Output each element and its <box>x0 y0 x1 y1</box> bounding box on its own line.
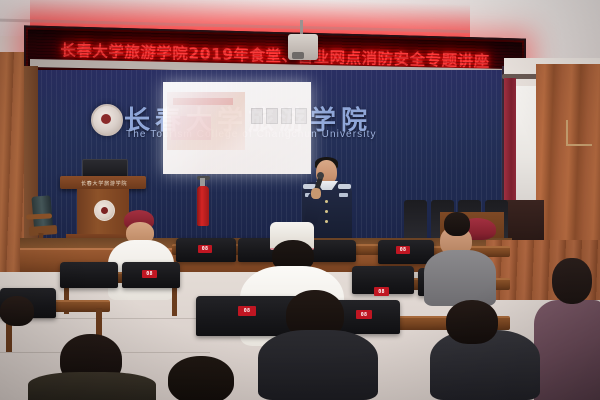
university-emblem-icon <box>91 104 123 136</box>
audience-body-a3 <box>258 330 378 400</box>
audience-body-front-left <box>28 372 156 400</box>
wall-hook-bar-icon <box>566 144 592 146</box>
audience-head-a7 <box>552 258 592 304</box>
podium-emblem-icon <box>94 200 115 221</box>
wall-hook-icon <box>566 120 568 146</box>
stage-row-chair <box>404 200 427 240</box>
audience-head-front-center <box>168 356 234 400</box>
chair-r3-c2 <box>196 296 300 336</box>
audience-head-a4 <box>0 296 34 326</box>
projection-screen <box>163 82 311 174</box>
screen-glare <box>163 82 311 174</box>
speaker-hand <box>311 188 321 199</box>
uniform-button <box>325 220 328 223</box>
audience-head-a8 <box>446 300 498 344</box>
seat-number-plate: 08 <box>374 287 389 296</box>
speaker-badge-right <box>339 193 348 197</box>
audience-body-a5-grey-jacket <box>424 250 496 306</box>
fire-extinguisher-icon <box>197 186 209 226</box>
seat-number-plate: 08 <box>356 310 372 319</box>
seat-number-plate: 08 <box>238 306 256 316</box>
uniform-button <box>325 200 328 203</box>
lecture-hall-photo: 长春大学旅游学院2019年食堂、营业网点消防安全专题讲座 长春大学旅游学院 Th… <box>0 0 600 400</box>
speaker-epaulette-right <box>338 184 351 189</box>
podium-label: 长春大学旅游学院 <box>66 180 142 187</box>
seat-number-plate: 08 <box>198 245 212 253</box>
audience-head-a6 <box>444 212 470 236</box>
audience-body-a7-purple-coat <box>534 300 600 400</box>
seat-number-plate: 08 <box>142 270 157 278</box>
seat-number-plate: 08 <box>396 246 410 254</box>
curtain-left <box>504 78 516 204</box>
microphone-head-icon <box>317 172 324 179</box>
projector-lens-icon <box>292 52 304 59</box>
chair-r2-c1 <box>60 262 118 288</box>
wood-wall-panel <box>536 64 600 260</box>
uniform-button <box>325 210 328 213</box>
